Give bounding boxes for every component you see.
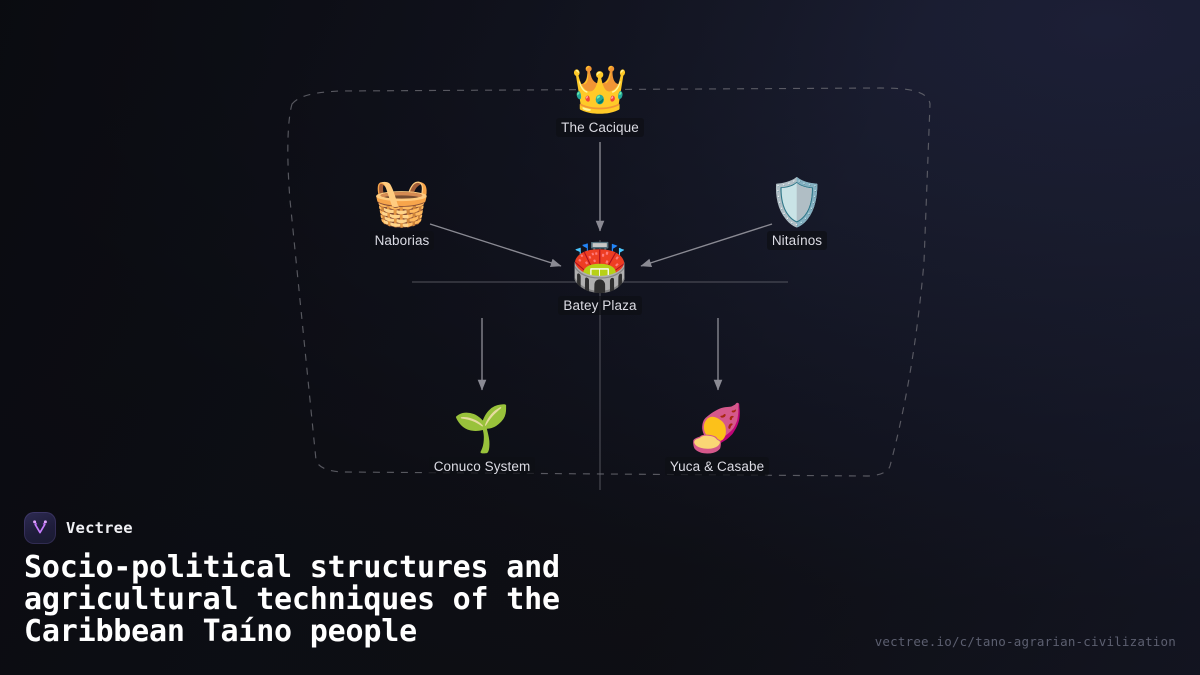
node-cacique[interactable]: 👑 The Cacique <box>515 62 685 137</box>
seedling-icon: 🌱 <box>397 401 567 455</box>
crown-icon: 👑 <box>515 62 685 116</box>
stadium-icon: 🏟️ <box>515 240 685 294</box>
node-label-cacique: The Cacique <box>556 118 644 137</box>
node-label-batey-plaza: Batey Plaza <box>558 296 641 315</box>
shield-icon: 🛡️ <box>712 175 882 229</box>
sprout-glyph <box>30 518 50 538</box>
node-label-naborias: Naborias <box>370 231 435 250</box>
node-batey-plaza[interactable]: 🏟️ Batey Plaza <box>515 240 685 315</box>
node-naborias[interactable]: 🧺 Naborias <box>317 175 487 250</box>
node-nitainos[interactable]: 🛡️ Nitaínos <box>712 175 882 250</box>
node-label-conuco-system: Conuco System <box>429 457 536 476</box>
page-title: Socio-political structures and agricultu… <box>24 552 724 648</box>
sweet-potato-icon: 🍠 <box>632 401 802 455</box>
brand-name: Vectree <box>66 519 133 537</box>
node-yuca-casabe[interactable]: 🍠 Yuca & Casabe <box>632 401 802 476</box>
footer: Vectree Socio-political structures and a… <box>0 490 1200 675</box>
node-label-nitainos: Nitaínos <box>767 231 827 250</box>
basket-icon: 🧺 <box>317 175 487 229</box>
brand-row[interactable]: Vectree <box>24 512 133 544</box>
vectree-logo-icon <box>24 512 56 544</box>
concept-diagram: 👑 The Cacique 🧺 Naborias 🛡️ Nitaínos 🏟️ … <box>0 0 1200 500</box>
node-conuco-system[interactable]: 🌱 Conuco System <box>397 401 567 476</box>
node-label-yuca-casabe: Yuca & Casabe <box>665 457 769 476</box>
source-url: vectree.io/c/tano-agrarian-civilization <box>875 634 1176 649</box>
